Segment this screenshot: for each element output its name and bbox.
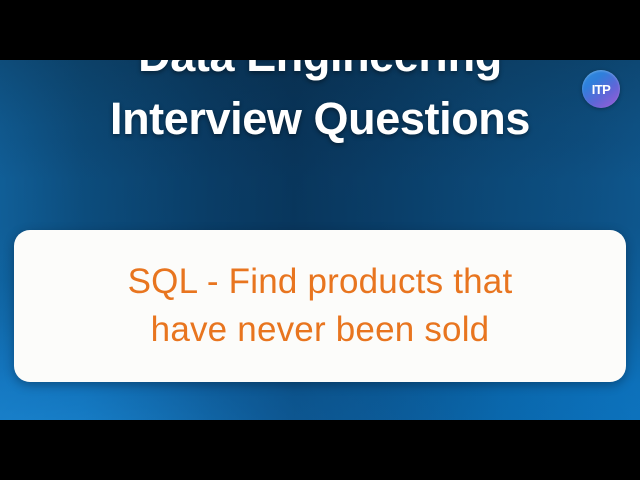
background-top-shade (0, 60, 640, 180)
question-line-1: SQL - Find products that (128, 258, 513, 306)
question-card: SQL - Find products that have never been… (14, 230, 626, 382)
question-line-2: have never been sold (151, 306, 490, 354)
letterbox-bar-bottom (0, 420, 640, 480)
video-title-slide: Data Engineering Interview Questions ITP… (0, 0, 640, 480)
itp-logo-icon: ITP (582, 70, 620, 108)
letterbox-bar-top (0, 0, 640, 60)
itp-logo-label: ITP (592, 83, 610, 96)
